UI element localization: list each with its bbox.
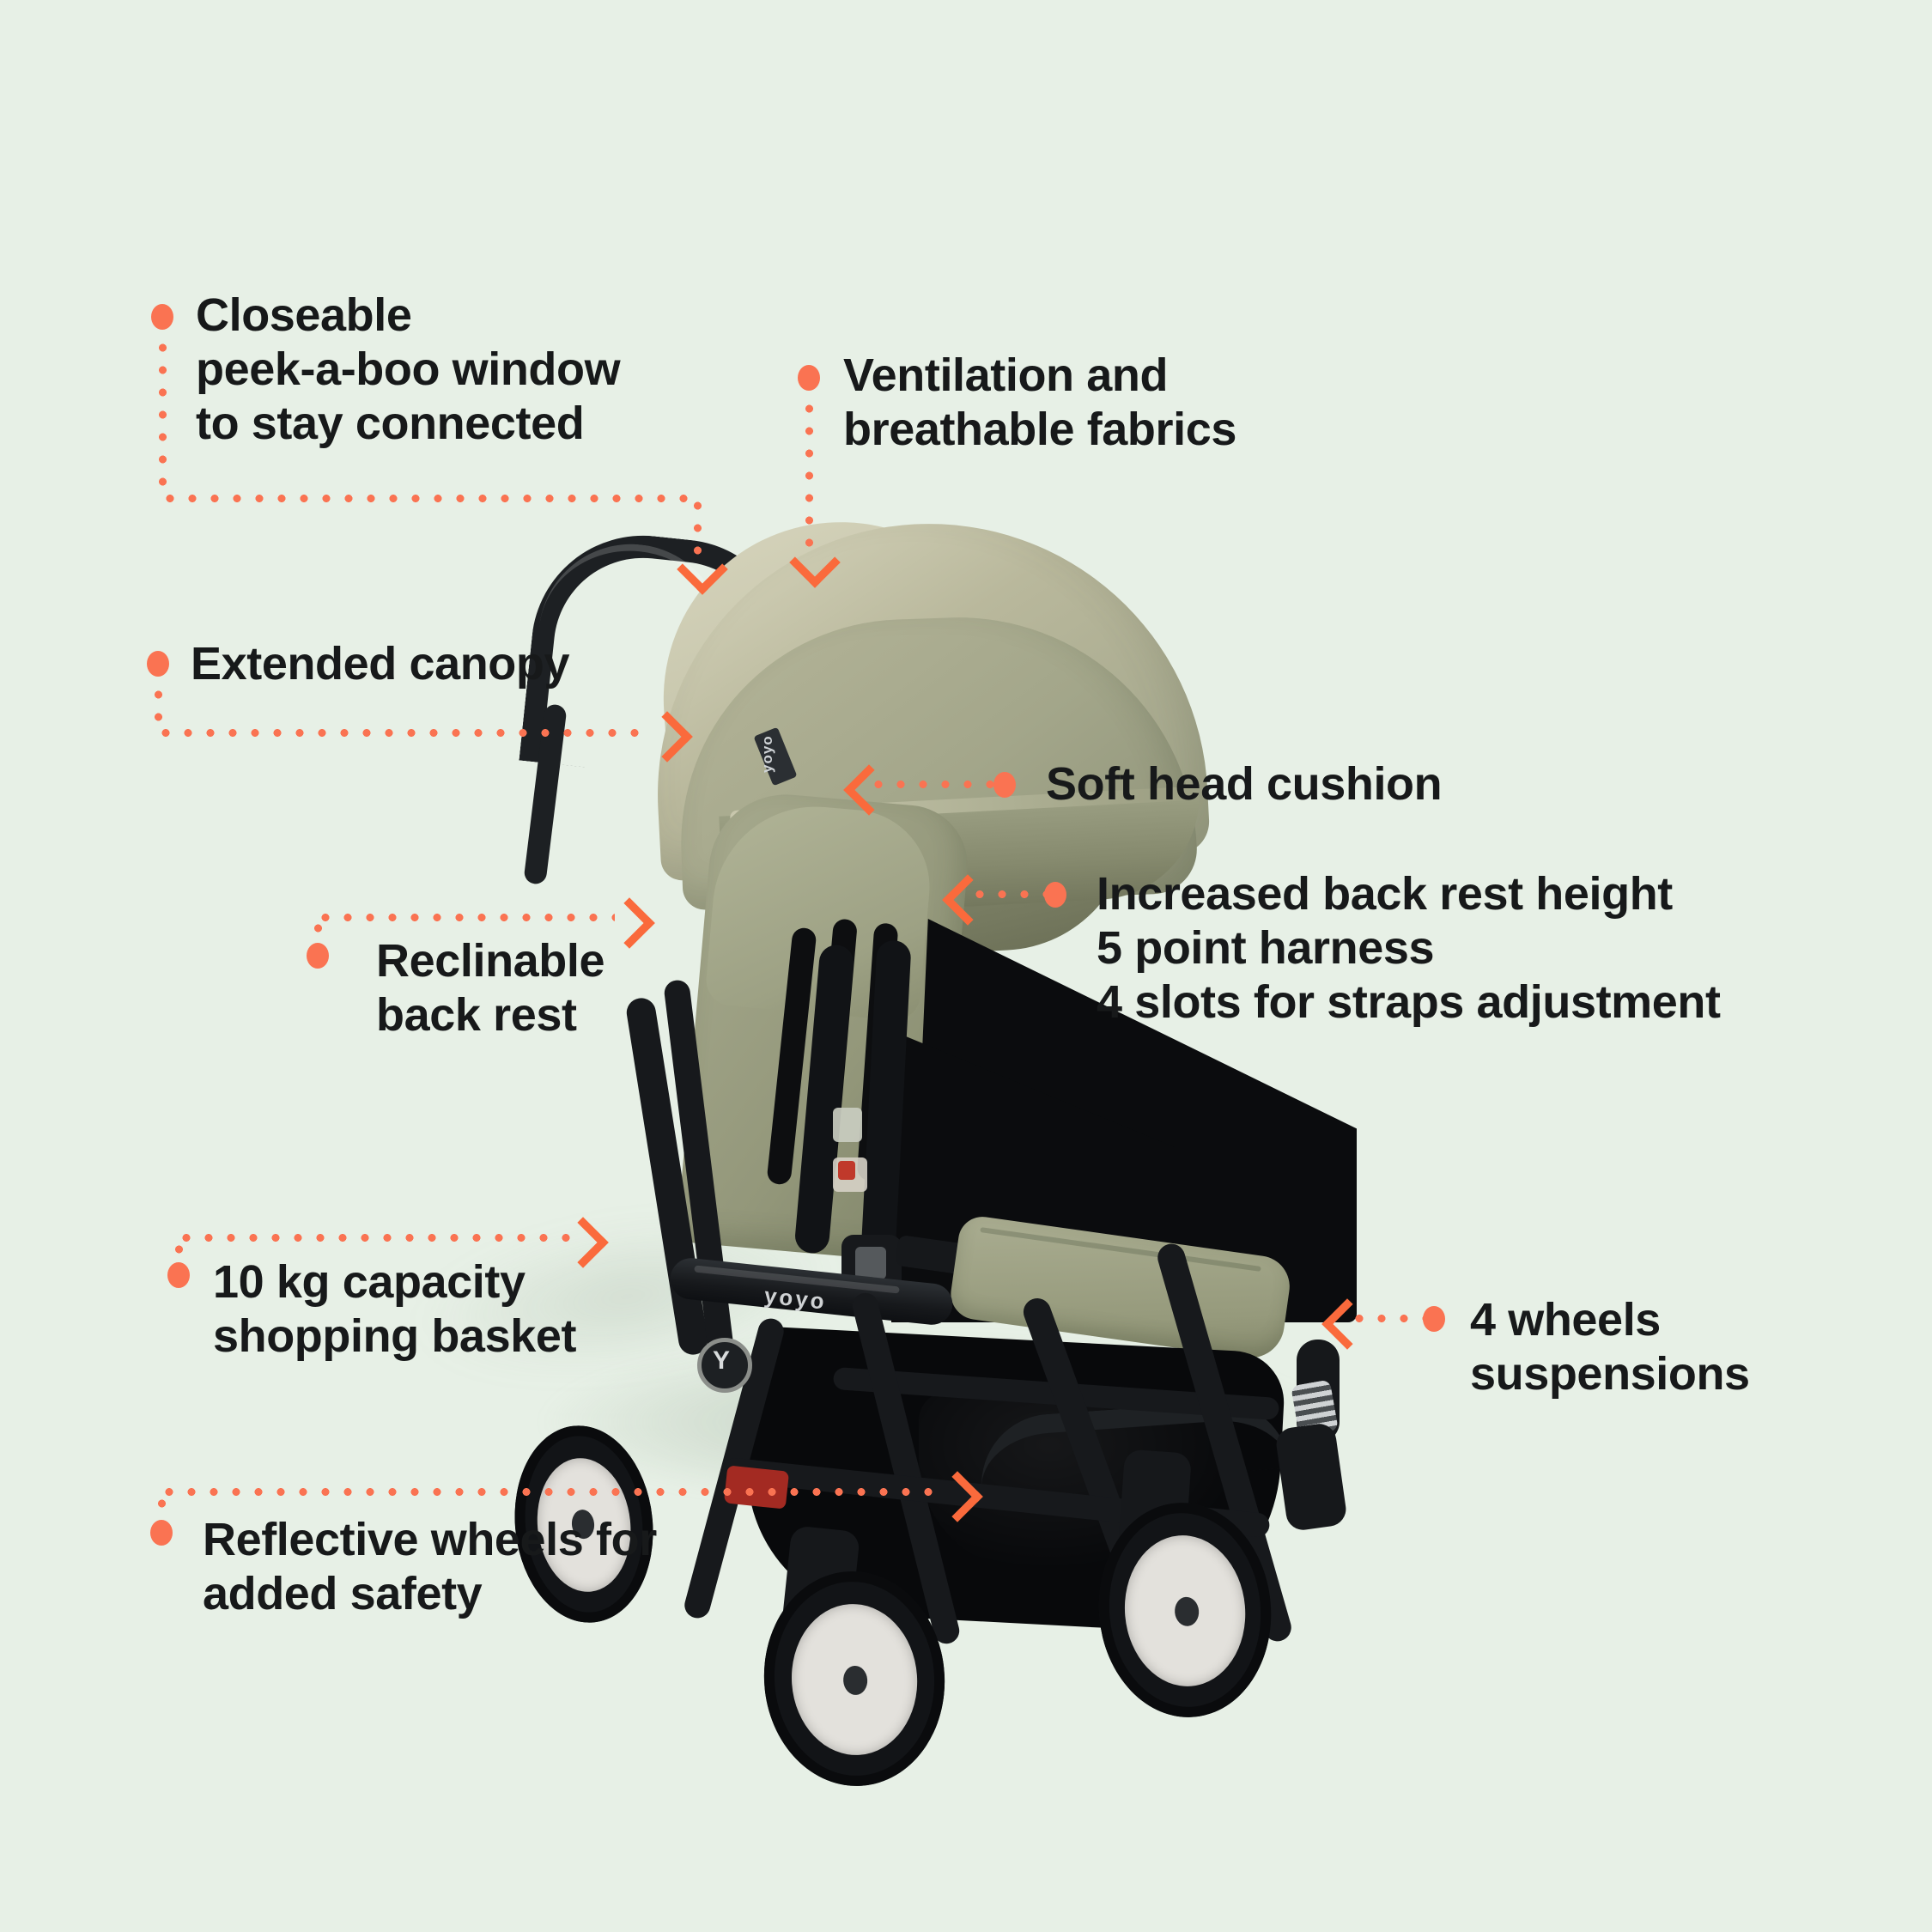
arrow-right-shopping-basket-capacity <box>560 1219 596 1255</box>
callout-label-soft-head-cushion: Soft head cushion <box>1046 757 1595 811</box>
connector-v-extended-canopy <box>155 683 162 733</box>
frame-red-clip <box>724 1465 789 1509</box>
callout-label-ventilation-breathable-fabrics: Ventilation and breathable fabrics <box>843 349 1290 457</box>
frame-hub-badge-label: Y <box>711 1346 732 1376</box>
harness-label-upper <box>833 1108 862 1142</box>
connector-v-reclinable-back-rest <box>314 917 322 948</box>
harness-label-accent <box>838 1161 855 1180</box>
arrow-left-increased-back-rest-height <box>945 877 981 913</box>
callout-bullet-increased-back-rest-height <box>1044 882 1066 908</box>
arrow-down-ventilation-breathable-fabrics <box>792 539 828 575</box>
callout-label-reclinable-back-rest: Reclinable back rest <box>376 934 745 1042</box>
arrow-down-closeable-peek-a-boo-window <box>679 546 715 582</box>
harness-buckle-inset <box>855 1247 886 1279</box>
callout-label-shopping-basket-capacity: 10 kg capacity shopping basket <box>213 1255 625 1364</box>
connector-h-reflective-wheels <box>158 1488 944 1496</box>
infographic-stage: yoyo yoyo Y <box>0 0 1932 1932</box>
callout-label-closeable-peek-a-boo-window: Closeable peek-a-boo window to stay conn… <box>196 289 677 452</box>
arrow-right-extended-canopy <box>644 714 680 750</box>
connector-v-shopping-basket-capacity <box>175 1238 183 1271</box>
arrow-left-four-wheels-suspensions <box>1324 1301 1360 1337</box>
callout-bullet-soft-head-cushion <box>993 772 1016 798</box>
connector-h-shopping-basket-capacity <box>175 1234 570 1242</box>
callout-label-increased-back-rest-height: Increased back rest height 5 point harne… <box>1097 867 1835 1030</box>
canopy-brand-tag-label: yoyo <box>759 742 793 773</box>
arrow-right-reflective-wheels <box>934 1473 970 1510</box>
connector-h-closeable-peek-a-boo-window <box>159 495 700 502</box>
connector-h-extended-canopy <box>155 729 653 737</box>
callout-label-four-wheels-suspensions: 4 wheels suspensions <box>1470 1293 1831 1401</box>
callout-label-extended-canopy: Extended canopy <box>191 637 637 691</box>
callout-bullet-closeable-peek-a-boo-window <box>151 304 173 330</box>
callout-bullet-ventilation-breathable-fabrics <box>798 365 820 391</box>
connector-v-closeable-peek-a-boo-window <box>159 337 167 498</box>
connector-v-ventilation-breathable-fabrics <box>805 398 813 550</box>
connector-v-reflective-wheels <box>158 1492 166 1528</box>
arrow-left-soft-head-cushion <box>846 767 882 803</box>
callout-bullet-extended-canopy <box>147 651 169 677</box>
arrow-right-reclinable-back-rest <box>606 900 642 936</box>
callout-label-reflective-wheels: Reflective wheels for added safety <box>203 1513 683 1621</box>
connector-h-reclinable-back-rest <box>314 914 615 921</box>
